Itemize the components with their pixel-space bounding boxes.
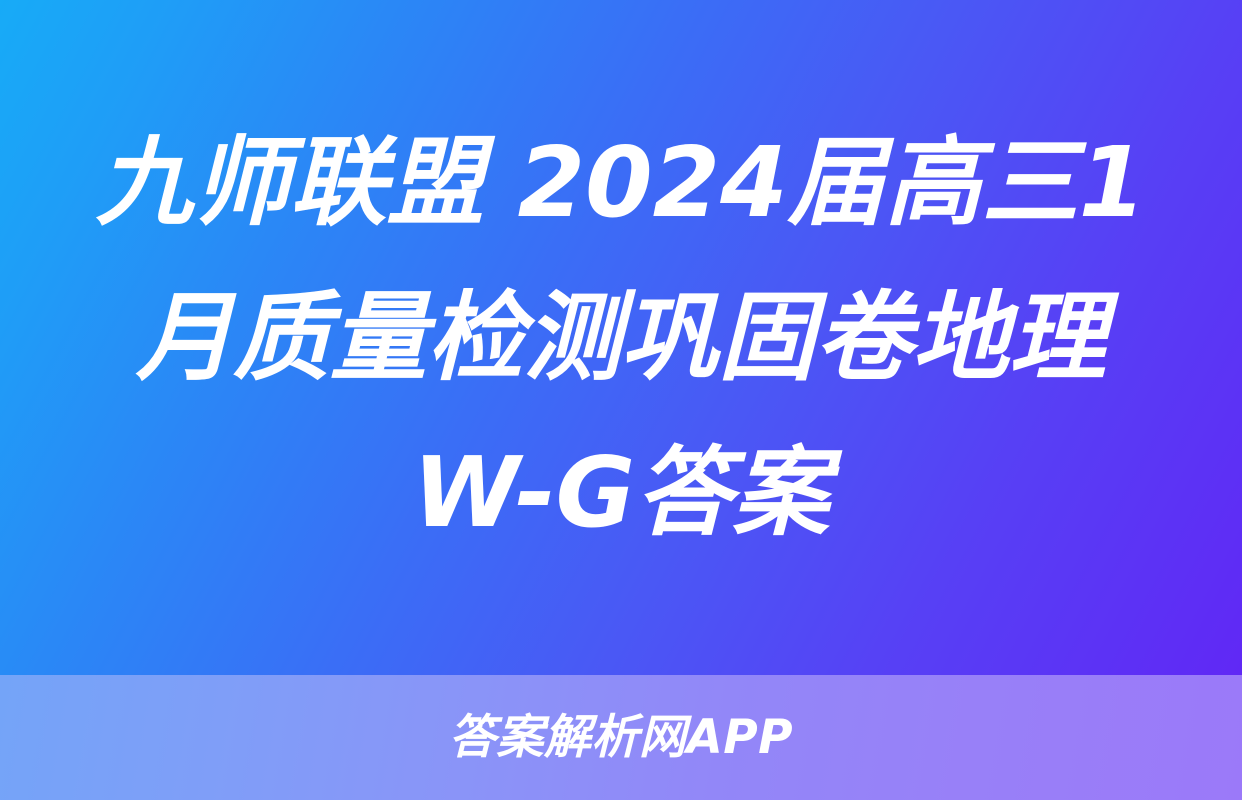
answer-card: 九师联盟 2024届高三1月质量检测巩固卷地理W-G答案 答案解析网APP (0, 0, 1242, 800)
watermark-app-name: 答案解析网APP (449, 714, 793, 761)
footer-watermark-band: 答案解析网APP (0, 675, 1242, 800)
title-block: 九师联盟 2024届高三1月质量检测巩固卷地理W-G答案 (0, 0, 1242, 675)
page-title: 九师联盟 2024届高三1月质量检测巩固卷地理W-G答案 (91, 105, 1151, 571)
